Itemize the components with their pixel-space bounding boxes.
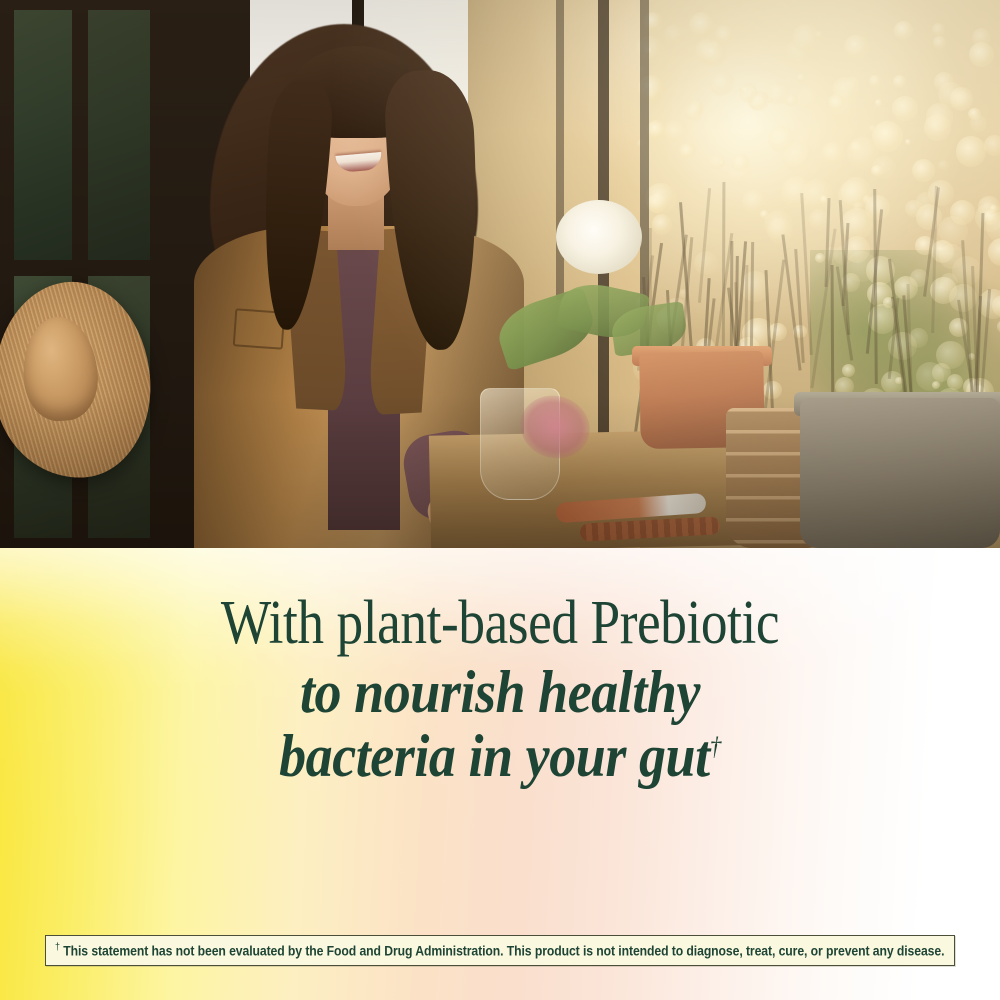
headline-line-3: bacteria in your gut† bbox=[50, 726, 950, 786]
disclaimer-dagger-icon: † bbox=[55, 942, 60, 953]
headline-line-3-text: bacteria in your gut bbox=[279, 723, 710, 789]
message-panel: With plant-based Prebiotic to nourish he… bbox=[0, 548, 1000, 1000]
headline-line-2: to nourish healthy bbox=[50, 662, 950, 722]
white-flower bbox=[556, 200, 642, 274]
grey-planter bbox=[800, 398, 1000, 548]
door-glass-3 bbox=[88, 10, 150, 260]
disclaimer-body: This statement has not been evaluated by… bbox=[63, 944, 944, 959]
fda-disclaimer-box: † This statement has not been evaluated … bbox=[45, 935, 955, 966]
headline-block: With plant-based Prebiotic to nourish he… bbox=[0, 592, 1000, 786]
footnote-marker-icon: † bbox=[710, 732, 721, 761]
door-glass-1 bbox=[14, 10, 72, 260]
fda-disclaimer-text: † This statement has not been evaluated … bbox=[55, 942, 944, 959]
lifestyle-photo bbox=[0, 0, 1000, 548]
headline-line-1: With plant-based Prebiotic bbox=[70, 592, 930, 654]
promo-image-canvas: With plant-based Prebiotic to nourish he… bbox=[0, 0, 1000, 1000]
